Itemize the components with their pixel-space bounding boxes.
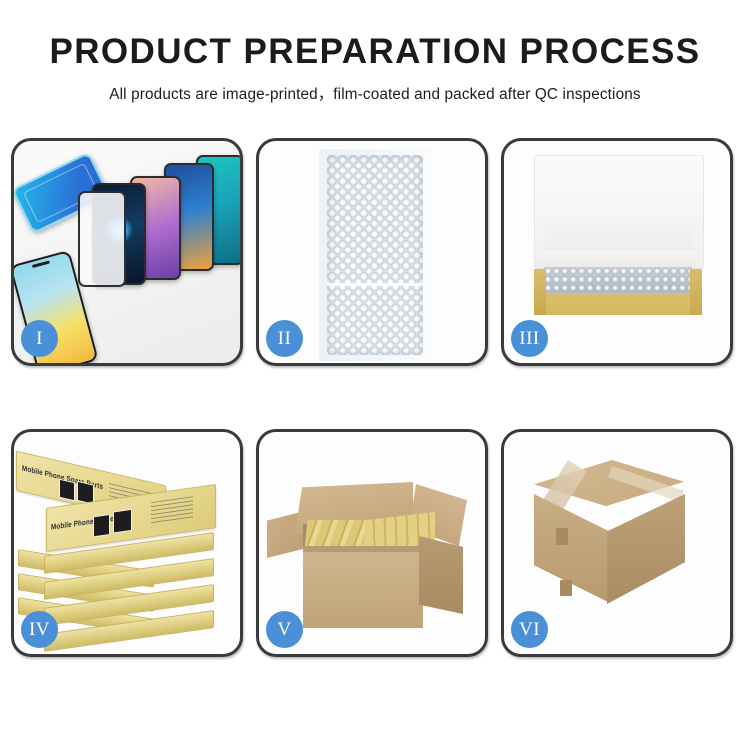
tempered-glass-panel (78, 191, 126, 287)
box-screen-image-3 (93, 514, 110, 537)
step-panel-5: V (256, 429, 488, 657)
step-panel-4: Mobile Phone Spare Parts Mobile Phone Sp… (11, 429, 243, 657)
bubble-wrapped-contents (544, 267, 692, 293)
step-badge-1: I (21, 320, 58, 357)
step-badge-6: VI (511, 611, 548, 648)
step-badge-3: III (511, 320, 548, 357)
wrap-seam (327, 283, 423, 286)
box-screen-image-4 (113, 509, 132, 534)
page-subtitle: All products are image-printed，film-coat… (0, 82, 750, 104)
process-steps-grid: I II III (11, 138, 739, 738)
carton-handle-slot-bottom (560, 580, 572, 596)
step-panel-3: III (501, 138, 733, 366)
product-preparation-infographic: PRODUCT PREPARATION PROCESS All products… (0, 0, 750, 750)
step-badge-5: V (266, 611, 303, 648)
carton-side-face (419, 536, 463, 614)
page-title: PRODUCT PREPARATION PROCESS (0, 34, 750, 71)
header: PRODUCT PREPARATION PROCESS All products… (0, 0, 750, 104)
sealed-carton-side (607, 494, 685, 604)
step-panel-6: VI (501, 429, 733, 657)
box-screen-image-1 (59, 479, 75, 502)
box-spec-lines-second (151, 496, 193, 526)
box-lip-right (690, 269, 702, 315)
carton-front-face (303, 552, 423, 628)
step-badge-4: IV (21, 611, 58, 648)
step-panel-1: I (11, 138, 243, 366)
box-lip-left (534, 269, 546, 315)
carton-handle-slot-top (556, 528, 568, 545)
bubble-wrap-texture (327, 155, 423, 355)
step-badge-2: II (266, 320, 303, 357)
step-panel-2: II (256, 138, 488, 366)
